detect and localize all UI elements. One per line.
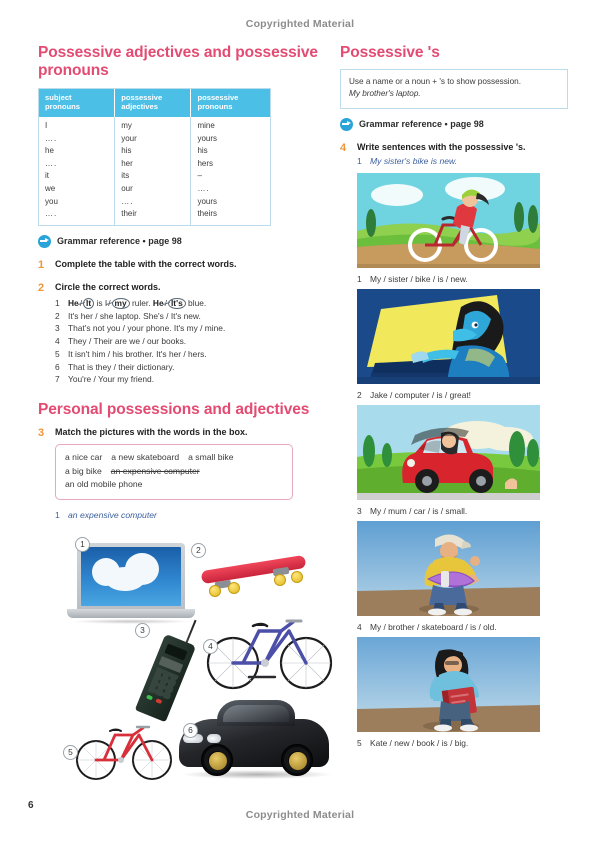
exercise-4-title: Write sentences with the possessive 's.: [357, 142, 568, 153]
item-number: 3: [55, 322, 68, 335]
item-number: 7: [55, 373, 68, 386]
exercise-1: 1 Complete the table with the correct wo…: [38, 259, 320, 271]
cell[interactable]: his: [191, 145, 270, 158]
prompt-text: My / sister / bike / is / new.: [370, 274, 468, 285]
cell[interactable]: ….: [39, 208, 115, 225]
prompt-2: 2 Jake / computer / is / great!: [340, 390, 568, 401]
word-option[interactable]: an old mobile phone: [65, 479, 142, 489]
prompt-number: 4: [357, 622, 370, 633]
picture-badge-1: 1: [75, 537, 90, 552]
table-header-subject-pronouns: subject pronouns: [39, 89, 115, 117]
table-row: Imymine: [39, 117, 270, 133]
exercise-1-number: 1: [38, 259, 55, 271]
table-row: you….yours: [39, 196, 270, 209]
cell[interactable]: you: [39, 196, 115, 209]
picture-skateboard[interactable]: [195, 557, 320, 603]
exercise-2-title: Circle the correct words.: [55, 282, 320, 293]
item-number: 4: [55, 335, 68, 348]
workbook-page: Copyrighted Material Copyrighted Materia…: [0, 0, 600, 841]
item-number: 5: [55, 348, 68, 361]
exercise-2-items: 1 He / It is I / my ruler. He / It's blu…: [55, 297, 320, 386]
arrow-right-circle-icon: [340, 118, 353, 131]
cell[interactable]: mine: [191, 117, 270, 133]
word-option[interactable]: a nice car: [65, 452, 102, 462]
exercise-4-number: 4: [340, 142, 357, 168]
arrow-right-circle-icon: [38, 235, 51, 248]
item-number: 1: [55, 297, 68, 310]
section-heading-personal-possessions: Personal possessions and adjectives: [38, 401, 320, 419]
table-row: itits–: [39, 170, 270, 183]
skateboard-wheel: [209, 585, 221, 597]
possessions-collage: 1 2: [55, 529, 337, 784]
laptop-wallpaper: [81, 547, 181, 606]
answer-number: 1: [357, 155, 370, 167]
table-row: weour….: [39, 183, 270, 196]
prompt-text: Kate / new / book / is / big.: [370, 738, 468, 749]
exercise-3-title: Match the pictures with the words in the…: [55, 427, 337, 438]
item-number: 6: [55, 361, 68, 374]
table-header-possessive-pronouns: possessive pronouns: [191, 89, 270, 117]
pronoun-table-body: Imymine ….youryours hehishis ….herhers i…: [39, 117, 270, 225]
car-headlight-right: [207, 734, 221, 743]
answer-number: 1: [55, 509, 68, 521]
exercise-4: 4 Write sentences with the possessive 's…: [340, 142, 568, 168]
prompt-1: 1 My / sister / bike / is / new.: [340, 274, 568, 285]
phone-red-key: [155, 698, 162, 704]
car-windscreen: [223, 705, 289, 722]
photo-boy-holding-skateboard[interactable]: [357, 521, 540, 616]
table-row: ….youryours: [39, 133, 270, 146]
cell[interactable]: their: [115, 208, 191, 225]
section-heading-possessive-s: Possessive 's: [340, 44, 568, 62]
item-text: He / It is I / my ruler. He / It's blue.: [68, 297, 320, 310]
exercise-2-number: 2: [38, 282, 55, 386]
cell[interactable]: it: [39, 170, 115, 183]
cell[interactable]: ….: [191, 183, 270, 196]
grammar-reference-left[interactable]: Grammar reference • page 98: [38, 235, 320, 248]
cloud-icon: [105, 567, 145, 591]
left-column: Possessive adjectives and possessive pro…: [38, 44, 320, 784]
item-number: 2: [55, 310, 68, 323]
cell[interactable]: his: [115, 145, 191, 158]
item-text: That is they / their dictionary.: [68, 361, 320, 374]
prompt-text: My / brother / skateboard / is / old.: [370, 622, 497, 633]
item-text: They / Their are we / our books.: [68, 335, 320, 348]
prompt-number: 1: [357, 274, 370, 285]
circled-answer: It: [83, 298, 94, 309]
photo-girl-carrying-book[interactable]: [357, 637, 540, 732]
word-box-line: a nice cara new skateboarda small bike: [65, 451, 283, 465]
item-text: It's her / she laptop. She's / It's new.: [68, 310, 320, 323]
table-row: hehishis: [39, 145, 270, 158]
item-text: It isn't him / his brother. It's her / h…: [68, 348, 320, 361]
picture-badge-6: 6: [183, 723, 198, 738]
prompt-number: 3: [357, 506, 370, 517]
picture-red-bike[interactable]: [73, 719, 173, 781]
cell[interactable]: her: [115, 158, 191, 171]
grammar-reference-label: Grammar reference • page 98: [57, 236, 182, 246]
car-rim: [209, 752, 227, 770]
cell[interactable]: theirs: [191, 208, 270, 225]
prompt-5: 5 Kate / new / book / is / big.: [340, 738, 568, 749]
list-item[interactable]: 7 You're / Your my friend.: [55, 373, 320, 386]
pronoun-table: subject pronouns possessive adjectives p…: [38, 88, 271, 226]
list-item[interactable]: 4 They / Their are we / our books.: [55, 335, 320, 348]
list-item[interactable]: 3 That's not you / your phone. It's my /…: [55, 322, 320, 335]
exercise-3-answer: 1 an expensive computer: [55, 509, 337, 521]
circled-answer: It's: [168, 298, 186, 309]
picture-badge-2: 2: [191, 543, 206, 558]
section-heading-possessive-adjectives: Possessive adjectives and possessive pro…: [38, 44, 320, 81]
cell[interactable]: ….: [39, 133, 115, 146]
word-option[interactable]: a big bike: [65, 466, 102, 476]
table-header-possessive-adjectives: possessive adjectives: [115, 89, 191, 117]
cell[interactable]: our: [115, 183, 191, 196]
list-item[interactable]: 6 That is they / their dictionary.: [55, 361, 320, 374]
grammar-reference-label: Grammar reference • page 98: [359, 119, 484, 129]
laptop-shadow: [71, 619, 191, 624]
cell[interactable]: we: [39, 183, 115, 196]
right-column: Possessive 's Use a name or a noun + 's …: [340, 44, 568, 753]
word-box-line: an old mobile phone: [65, 478, 283, 492]
car-shadow: [183, 770, 331, 779]
skateboard-wheel: [291, 571, 303, 583]
cell[interactable]: my: [115, 117, 191, 133]
picture-blue-bike[interactable]: [203, 609, 333, 691]
tip-line-1: Use a name or a noun + 's to show posses…: [349, 76, 559, 88]
cell[interactable]: ….: [39, 158, 115, 171]
cell[interactable]: I: [39, 117, 115, 133]
exercise-3: 3 Match the pictures with the words in t…: [38, 427, 320, 785]
exercise-2: 2 Circle the correct words. 1 He / It is…: [38, 282, 320, 386]
list-item[interactable]: 2 It's her / she laptop. She's / It's ne…: [55, 310, 320, 323]
photo-woman-driving-red-car[interactable]: [357, 405, 540, 500]
photo-girl-riding-bike[interactable]: [357, 173, 540, 268]
prompt-text: Jake / computer / is / great!: [370, 390, 471, 401]
page-number: 6: [28, 800, 34, 811]
cell[interactable]: –: [191, 170, 270, 183]
photo-boy-at-computer[interactable]: [357, 289, 540, 384]
exercise-1-title: Complete the table with the correct word…: [55, 259, 320, 270]
table-header-row: subject pronouns possessive adjectives p…: [39, 89, 270, 117]
cell[interactable]: ….: [115, 196, 191, 209]
item-text: That's not you / your phone. It's my / m…: [68, 322, 320, 335]
item-text: You're / Your my friend.: [68, 373, 320, 386]
phone-green-key: [146, 695, 153, 701]
answer-text: My sister's bike is new.: [370, 155, 457, 167]
table-row: ….theirtheirs: [39, 208, 270, 225]
prompt-number: 2: [357, 390, 370, 401]
word-box: a nice cara new skateboarda small bike a…: [55, 444, 293, 500]
cell[interactable]: hers: [191, 158, 270, 171]
car-cabin: [217, 700, 295, 726]
cell[interactable]: yours: [191, 196, 270, 209]
car-rim: [289, 752, 307, 770]
watermark-top: Copyrighted Material: [0, 18, 600, 30]
skateboard-wheel: [228, 582, 240, 594]
cell[interactable]: its: [115, 170, 191, 183]
skateboard-deck: [201, 555, 307, 584]
word-option-struck[interactable]: an expensive computer: [111, 466, 200, 476]
grammar-tip-box: Use a name or a noun + 's to show posses…: [340, 69, 568, 108]
circled-answer: my: [112, 298, 130, 309]
exercise-3-number: 3: [38, 427, 55, 785]
grammar-reference-right[interactable]: Grammar reference • page 98: [340, 118, 568, 131]
skateboard-wheel: [274, 574, 286, 586]
picture-black-car[interactable]: [175, 697, 335, 777]
word-box-line: a big bikean expensive computer: [65, 465, 283, 479]
cell[interactable]: your: [115, 133, 191, 146]
picture-badge-4: 4: [203, 639, 218, 654]
prompt-3: 3 My / mum / car / is / small.: [340, 506, 568, 517]
list-item[interactable]: 5 It isn't him / his brother. It's her /…: [55, 348, 320, 361]
watermark-bottom: Copyrighted Material: [0, 809, 600, 821]
phone-keypad: [148, 667, 179, 700]
table-row: ….herhers: [39, 158, 270, 171]
word-option[interactable]: a new skateboard: [111, 452, 179, 462]
picture-laptop[interactable]: [77, 543, 195, 624]
cell[interactable]: yours: [191, 133, 270, 146]
cell[interactable]: he: [39, 145, 115, 158]
exercise-4-example: 1 My sister's bike is new.: [357, 155, 568, 167]
laptop-keyboard-base: [67, 609, 195, 618]
word-option[interactable]: a small bike: [188, 452, 233, 462]
prompt-number: 5: [357, 738, 370, 749]
laptop-screen: [77, 543, 185, 609]
picture-badge-5: 5: [63, 745, 78, 760]
prompt-text: My / mum / car / is / small.: [370, 506, 467, 517]
answer-text: an expensive computer: [68, 509, 157, 521]
car-body: [179, 719, 329, 767]
list-item[interactable]: 1 He / It is I / my ruler. He / It's blu…: [55, 297, 320, 310]
tip-example: My brother's laptop.: [349, 88, 559, 100]
prompt-4: 4 My / brother / skateboard / is / old.: [340, 622, 568, 633]
picture-badge-3: 3: [135, 623, 150, 638]
